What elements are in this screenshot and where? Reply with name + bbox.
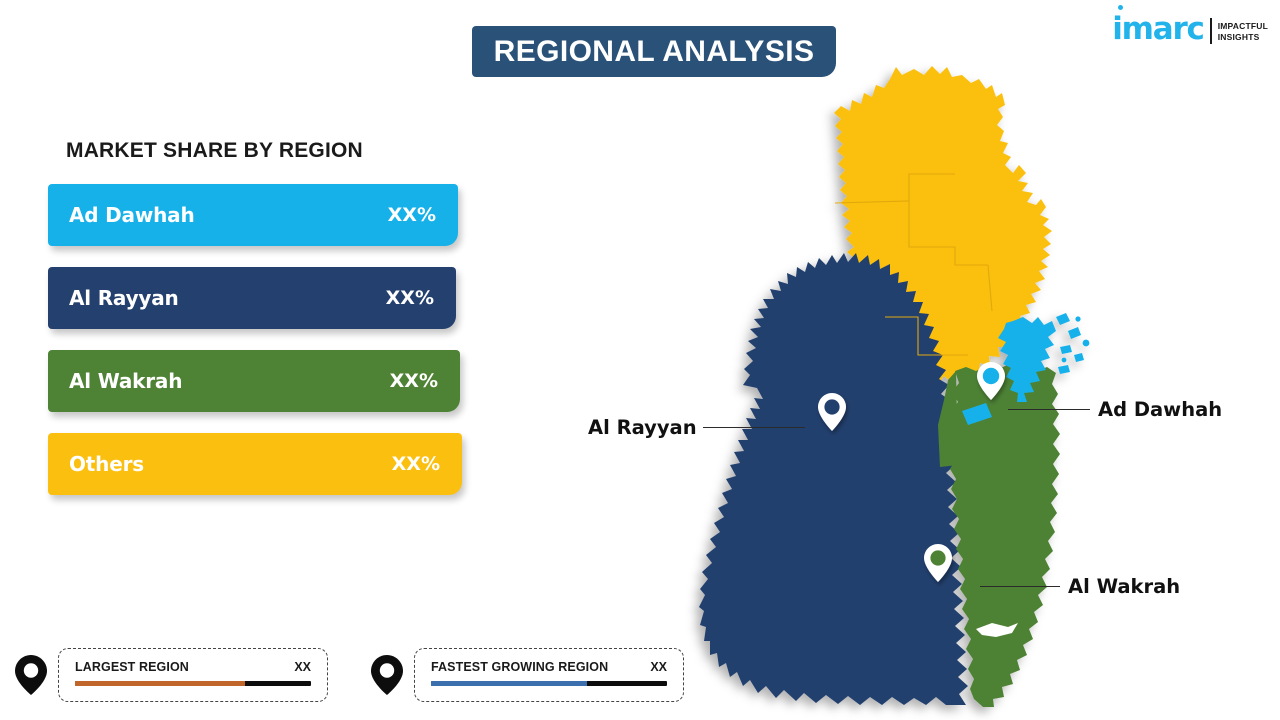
legend-item-fastest-growing-region[interactable]: FASTEST GROWING REGION XX bbox=[370, 648, 684, 702]
logo-dot-icon bbox=[1118, 5, 1123, 10]
map-landmass bbox=[699, 66, 1089, 707]
bar-value: XX% bbox=[388, 204, 436, 226]
market-share-bar-al-rayyan[interactable]: Al Rayyan XX% bbox=[48, 267, 456, 329]
legend-title: LARGEST REGION bbox=[75, 660, 189, 674]
bar-label: Al Rayyan bbox=[69, 286, 179, 310]
legend-progress-fill bbox=[75, 681, 245, 686]
market-share-bar-al-wakrah[interactable]: Al Wakrah XX% bbox=[48, 350, 460, 412]
legend-value: XX bbox=[650, 660, 667, 674]
market-share-bar-list: Ad Dawhah XX% Al Rayyan XX% Al Wakrah XX… bbox=[48, 184, 460, 516]
legend-box: LARGEST REGION XX bbox=[58, 648, 328, 702]
legend-title: FASTEST GROWING REGION bbox=[431, 660, 608, 674]
logo-divider bbox=[1210, 18, 1212, 44]
bar-value: XX% bbox=[386, 287, 434, 309]
bar-label: Others bbox=[69, 452, 144, 476]
map-callout-leader-line bbox=[703, 427, 805, 429]
legend-progress-track bbox=[431, 681, 667, 686]
map-callout-leader-line bbox=[1008, 409, 1090, 411]
legend-progress-track bbox=[75, 681, 311, 686]
map-pin-icon bbox=[14, 654, 48, 696]
map-callout-ad-dawhah: Ad Dawhah bbox=[1008, 398, 1222, 421]
legend-box: FASTEST GROWING REGION XX bbox=[414, 648, 684, 702]
logo-wordmark: imarc bbox=[1112, 14, 1204, 45]
imarc-logo: imarc IMPACTFUL INSIGHTS bbox=[1112, 14, 1268, 45]
map-pin-icon bbox=[370, 654, 404, 696]
qatar-region-map bbox=[700, 55, 1100, 715]
logo-tagline-line1: IMPACTFUL bbox=[1218, 21, 1268, 32]
logo-tagline: IMPACTFUL INSIGHTS bbox=[1218, 21, 1268, 43]
legend-item-largest-region[interactable]: LARGEST REGION XX bbox=[14, 648, 328, 702]
map-callout-label: Al Rayyan bbox=[588, 416, 697, 439]
map-callout-label: Al Wakrah bbox=[1068, 575, 1180, 598]
map-callout-leader-line bbox=[980, 586, 1060, 588]
bar-label: Al Wakrah bbox=[69, 369, 182, 393]
map-callout-label: Ad Dawhah bbox=[1098, 398, 1222, 421]
logo-tagline-line2: INSIGHTS bbox=[1218, 32, 1268, 43]
logo-wordmark-text: imarc bbox=[1112, 11, 1204, 47]
legend-progress-fill bbox=[431, 681, 587, 686]
map-callout-al-rayyan: Al Rayyan bbox=[588, 416, 805, 439]
bar-label: Ad Dawhah bbox=[69, 203, 195, 227]
legend-value: XX bbox=[294, 660, 311, 674]
map-coastal-islets bbox=[1056, 313, 1089, 374]
footer-legend: LARGEST REGION XX FASTEST GROWING REGION… bbox=[14, 648, 684, 702]
map-svg bbox=[700, 55, 1100, 715]
bar-value: XX% bbox=[390, 370, 438, 392]
market-share-bar-ad-dawhah[interactable]: Ad Dawhah XX% bbox=[48, 184, 458, 246]
map-callout-al-wakrah: Al Wakrah bbox=[980, 575, 1180, 598]
market-share-heading: MARKET SHARE BY REGION bbox=[66, 139, 363, 163]
bar-value: XX% bbox=[392, 453, 440, 475]
market-share-bar-others[interactable]: Others XX% bbox=[48, 433, 462, 495]
